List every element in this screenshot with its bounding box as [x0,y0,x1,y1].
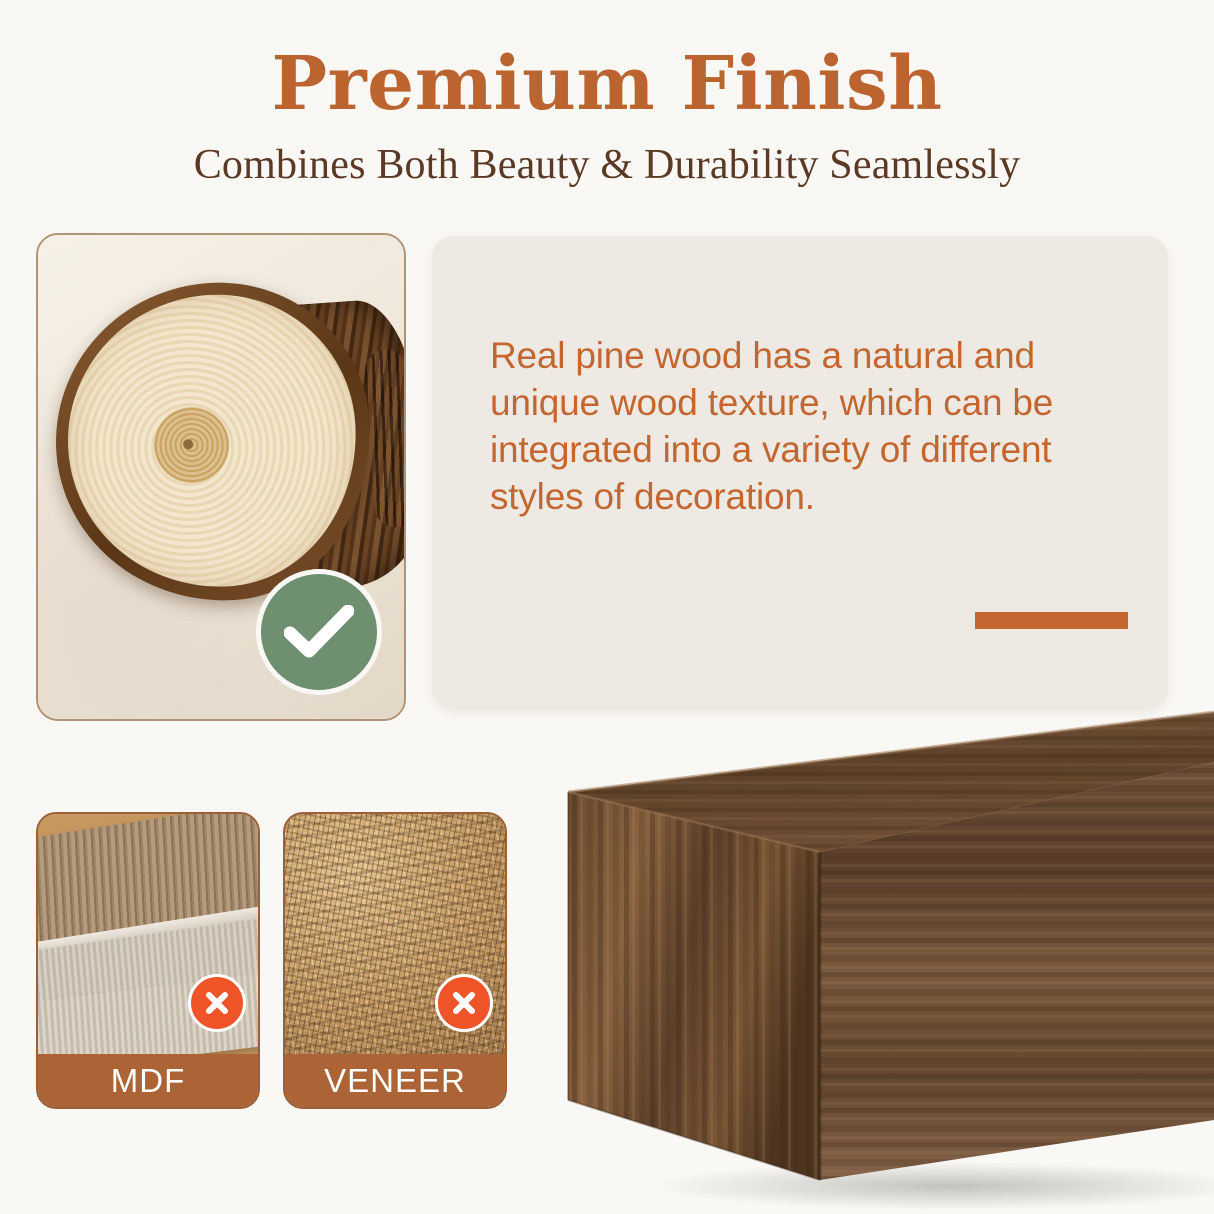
description-text: Real pine wood has a natural and unique … [490,332,1114,520]
accent-bar [975,612,1128,629]
header: Premium Finish Combines Both Beauty & Du… [0,42,1214,190]
product-feature-infographic: Premium Finish Combines Both Beauty & Du… [0,0,1214,1214]
material-card-mdf: MDF [36,812,260,1109]
page-title: Premium Finish [0,42,1214,126]
check-icon [261,574,377,690]
material-label-veneer: VENEER [285,1054,505,1107]
material-label-mdf: MDF [38,1054,258,1107]
cross-icon [435,974,493,1032]
page-subtitle: Combines Both Beauty & Durability Seamle… [0,140,1214,190]
description-card: Real pine wood has a natural and unique … [432,236,1168,710]
wood-beam-photo [520,700,1214,1214]
cross-icon [188,974,246,1032]
material-card-veneer: VENEER [283,812,507,1109]
